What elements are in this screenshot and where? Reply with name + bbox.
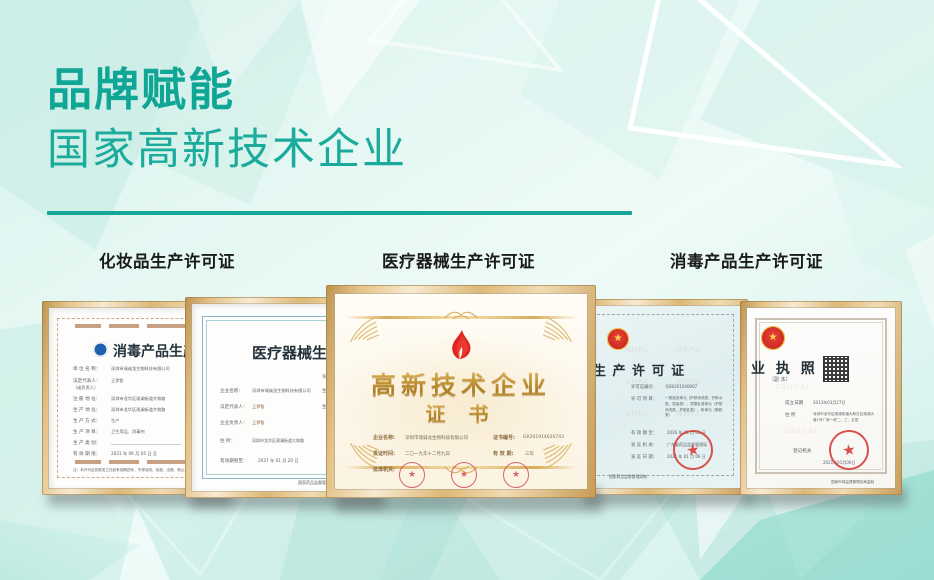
caption-cosmetics-license: 化妆品生产许可证 xyxy=(99,248,235,272)
field-value: 王伊智 xyxy=(111,378,124,384)
field-value: 卫生用品、消毒剂 xyxy=(111,429,145,435)
field-value: 号B0201000007 xyxy=(665,384,697,390)
gold-frame-border: 高新技术企业 证 书 企业名称: 深圳市瑞诚龙生物科技有限公司 证书编号: GR… xyxy=(326,285,596,498)
field-value: 生产 xyxy=(111,418,119,424)
field-label: 企业名称: xyxy=(373,434,395,441)
deco-bar xyxy=(109,460,139,464)
ornament-top-left-icon xyxy=(349,314,383,344)
watermark: soucai xyxy=(775,382,810,392)
field-label: 生 产 地 址： xyxy=(73,407,100,413)
certificate-paper: 高新技术企业 证 书 企业名称: 深圳市瑞诚龙生物科技有限公司 证书编号: GR… xyxy=(335,294,587,489)
field-value: 深圳市龙华区观澜街道大和路 xyxy=(252,438,304,444)
field-value: 2027 年 01 月 20 日 xyxy=(258,458,299,464)
field-label: 许可证编号： xyxy=(631,384,657,390)
field-value: 深圳市龙华区观澜街道大和路 xyxy=(111,396,165,402)
field-label: 发 证 日 期： xyxy=(631,454,657,460)
official-seal xyxy=(399,462,425,488)
field-value: 王伊智 xyxy=(252,404,265,410)
certificate-title: 高新技术企业 xyxy=(335,366,587,402)
headline-line-1: 品牌赋能 xyxy=(47,66,407,114)
national-emblem-icon xyxy=(607,328,629,350)
field-label: 住 所 xyxy=(785,412,796,418)
ornament-top-center-icon xyxy=(441,309,481,321)
field-label: 批准机关: xyxy=(373,466,395,473)
field-value: 三年 xyxy=(525,451,534,457)
certificate-frame-high-tech-enterprise[interactable]: 高新技术企业 证 书 企业名称: 深圳市瑞诚龙生物科技有限公司 证书编号: GR… xyxy=(326,285,596,498)
national-emblem-icon xyxy=(761,326,785,350)
field-label: 注 册 地 址： xyxy=(73,396,100,402)
gold-frame-border: NMPA NMPA NMPA NMPA NMPA NMPA 生 产 许 可 证 … xyxy=(578,299,748,495)
headline-line-2: 国家高新技术企业 xyxy=(47,126,407,174)
caption-disinfection-license: 消毒产品生产许可证 xyxy=(670,248,823,272)
certificate-footnote: 注：本许可证自核发之日起有效期四年，不得涂改、伪造、出借、转让。 xyxy=(73,468,188,473)
field-value: 一般液态单元（护肤消洗类、护肤水类、烫染类）、膏霜乳液单元（护肤消洗类、护肤乳类… xyxy=(665,396,723,419)
certificate-title: 业 执 照 xyxy=(751,358,818,378)
ornament-top-right-icon xyxy=(539,314,573,344)
field-value: 王伊智 xyxy=(252,420,265,426)
field-value: 深圳市龙华区观澜街道大和社区观澜大道1号厂房一栋二、三、五层 xyxy=(813,412,877,424)
certificate-captions: 化妆品生产许可证 医疗器械生产许可证 消毒产品生产许可证 xyxy=(0,248,934,276)
deco-bar xyxy=(75,324,101,328)
certificate-paper: NMPA NMPA NMPA NMPA NMPA NMPA 生 产 许 可 证 … xyxy=(585,306,741,488)
official-seal xyxy=(503,462,529,488)
field-value: 2013年03月27日 xyxy=(813,400,845,406)
field-value: 二〇一九年十二月九日 xyxy=(405,451,450,457)
field-label: 住 所： xyxy=(220,438,235,444)
certificate-title: 生 产 许 可 证 xyxy=(593,360,685,379)
frame-matte: 业 执 照 （副 本） soucai soucai 成立日期 2013年03月2… xyxy=(747,308,895,488)
field-value: 深圳市龙华区观澜街道大和路 xyxy=(111,407,165,413)
field-underline xyxy=(111,444,181,445)
qr-code[interactable] xyxy=(823,356,849,382)
certificate-paper: 业 执 照 （副 本） soucai soucai 成立日期 2013年03月2… xyxy=(747,308,895,488)
page-title: 品牌赋能 国家高新技术企业 xyxy=(47,66,407,174)
field-label: 有效期限至： xyxy=(220,458,248,464)
headline-divider xyxy=(47,211,632,215)
field-label: （或负责人） xyxy=(73,385,98,391)
watermark: NMPA xyxy=(677,346,701,354)
certificate-frame-production-license[interactable]: NMPA NMPA NMPA NMPA NMPA NMPA 生 产 许 可 证 … xyxy=(578,299,748,495)
issuing-authority: 国家药品监督管理局制 xyxy=(609,474,647,480)
official-seal xyxy=(451,462,477,488)
field-label: 企业名称： xyxy=(220,388,243,394)
field-value: GR201914020743 xyxy=(523,435,564,440)
issuing-authority: 国家市场监督管理总局监制 xyxy=(831,480,874,485)
high-tech-flame-logo-icon xyxy=(449,330,473,360)
frame-matte: NMPA NMPA NMPA NMPA NMPA NMPA 生 产 许 可 证 … xyxy=(585,306,741,488)
ornament-bottom-right-icon xyxy=(539,441,573,471)
field-label: 生 产 方 式： xyxy=(73,418,100,424)
certificate-gallery: 消毒产品生产 单 位 名 称： 深圳市瑞诚龙生物科技有限公司 法定代表人： 王伊… xyxy=(0,285,934,515)
field-label: 单 位 名 称： xyxy=(73,366,100,372)
field-label: 登记机关 xyxy=(793,448,811,454)
field-label: 生 产 项 目： xyxy=(73,429,100,435)
field-label: 企业负责人： xyxy=(220,420,248,426)
field-label: 法定代表人： xyxy=(220,404,248,410)
field-label: 有 效 期 至： xyxy=(631,430,657,436)
frame-matte: 高新技术企业 证 书 企业名称: 深圳市瑞诚龙生物科技有限公司 证书编号: GR… xyxy=(335,294,587,489)
caption-medical-device-license: 医疗器械生产许可证 xyxy=(382,248,535,272)
agency-logo-icon xyxy=(93,342,108,357)
certificate-frame-business-license[interactable]: 业 执 照 （副 本） soucai soucai 成立日期 2013年03月2… xyxy=(740,301,902,495)
field-value: 2021 年 06 月 05 日 至 xyxy=(111,451,157,457)
deco-bar xyxy=(75,460,101,464)
field-label: 法定代表人： xyxy=(73,378,101,384)
field-value: 深圳市瑞诚龙生物科技有限公司 xyxy=(111,366,170,372)
gold-frame-border: 业 执 照 （副 本） soucai soucai 成立日期 2013年03月2… xyxy=(740,301,902,495)
field-label: 成立日期 xyxy=(785,400,803,406)
field-label: 发 证 机 关： xyxy=(631,442,657,448)
deco-bar xyxy=(109,324,139,328)
field-label: 生 产 类 别： xyxy=(73,440,100,446)
watermark: NMPA xyxy=(625,410,649,418)
field-label: 有 效 期 限： xyxy=(73,451,100,457)
field-value: 深圳市瑞诚龙生物科技有限公司 xyxy=(252,388,311,394)
field-value: 深圳市瑞诚龙生物科技有限公司 xyxy=(405,435,468,441)
field-label: 许 可 项 目： xyxy=(631,396,657,402)
field-label: 证书编号: xyxy=(493,434,515,441)
field-label: 发证时间: xyxy=(373,450,395,457)
field-label: 有 效 期: xyxy=(493,450,513,457)
watermark: soucai xyxy=(783,426,818,436)
certificate-subtitle: 证 书 xyxy=(335,398,587,427)
